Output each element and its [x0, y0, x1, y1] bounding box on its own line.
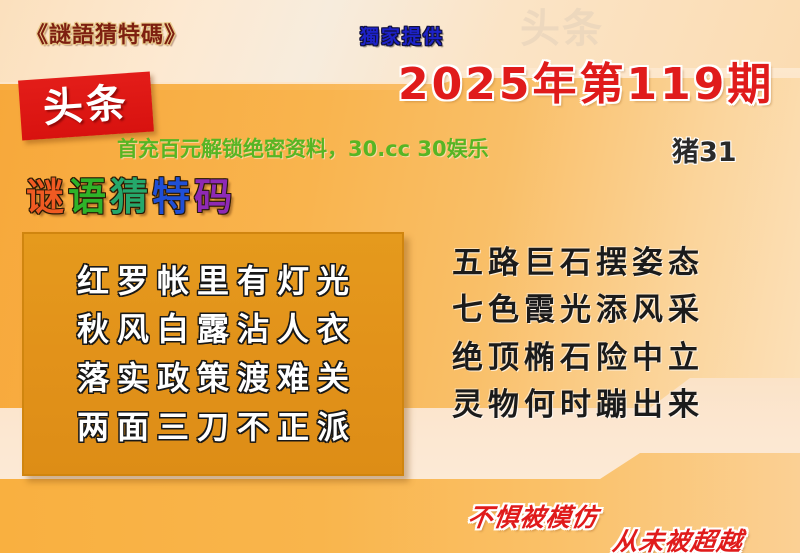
headline-badge-label: 头条 — [42, 83, 131, 129]
riddle-line: 秋风白露沾人衣 — [69, 305, 357, 354]
section-title-char-1: 谜 — [26, 175, 68, 219]
poster-root: 头条 《謎語猜特碼》 獨家提供 2025年第119期 头条 首充百元解锁绝密资料… — [0, 0, 800, 553]
promo-text: 首充百元解锁绝密资料，30.cc 30娱乐 — [117, 133, 489, 163]
poem-line: 灵物何时蹦出来 — [452, 382, 792, 429]
section-title-char-4: 特 — [152, 175, 194, 219]
poem-line: 绝顶椭石险中立 — [452, 335, 792, 382]
footer-slogan-secondary: 从未被超越 — [610, 522, 745, 553]
poem-block: 五路巨石摆姿态 七色霞光添风采 绝顶椭石险中立 灵物何时蹦出来 — [452, 240, 792, 430]
poem-line: 五路巨石摆姿态 — [452, 240, 792, 287]
background-watermark: 头条 — [520, 0, 604, 54]
zodiac-number: 猪31 — [672, 130, 737, 169]
poem-line: 七色霞光添风采 — [452, 287, 792, 334]
riddle-line: 落实政策渡难关 — [69, 354, 357, 403]
issue-title: 2025年第119期 — [398, 48, 774, 112]
traditional-title: 《謎語猜特碼》 — [26, 17, 187, 49]
riddle-line: 两面三刀不正派 — [69, 403, 357, 452]
riddle-box: 红罗帐里有灯光 秋风白露沾人衣 落实政策渡难关 两面三刀不正派 — [22, 232, 404, 476]
riddle-line: 红罗帐里有灯光 — [69, 257, 357, 306]
section-title-char-5: 码 — [194, 175, 236, 219]
section-title-char-2: 语 — [68, 175, 110, 219]
section-title: 谜语猜特码 — [26, 178, 236, 216]
headline-badge: 头条 — [18, 71, 154, 140]
section-title-char-3: 猜 — [110, 175, 152, 219]
footer-slogan-primary: 不惧被模仿 — [465, 498, 600, 534]
exclusive-label: 獨家提供 — [360, 22, 444, 49]
